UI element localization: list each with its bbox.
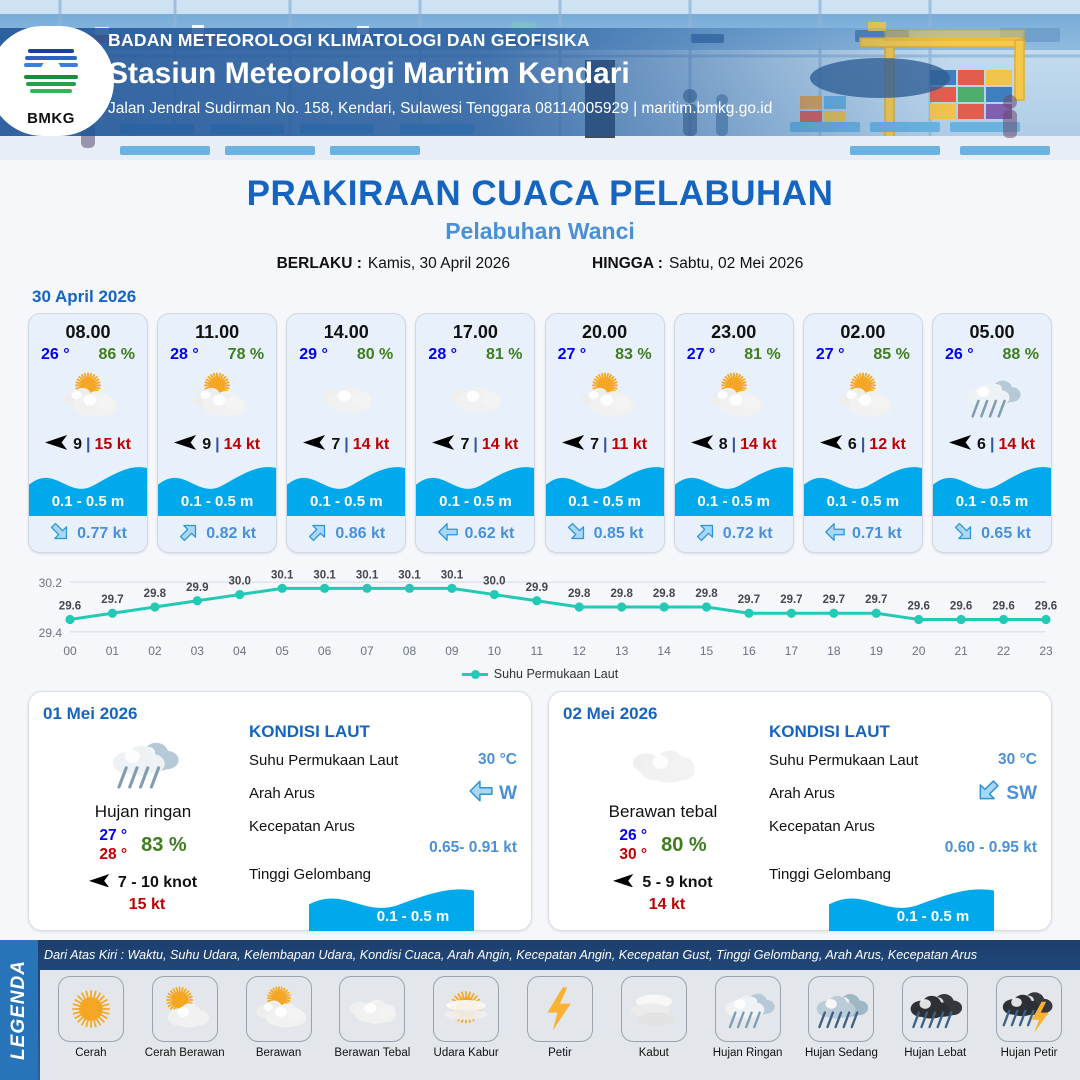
- current-direction-icon: [307, 521, 329, 548]
- forecast-card[interactable]: 11.00 28 ° 78 % 9 | 14 kt 0.1 - 0.5 m: [157, 313, 277, 553]
- card-current: 0.72 kt: [675, 516, 793, 552]
- legend-item-icon: [339, 976, 405, 1042]
- current-direction-icon: [566, 521, 588, 548]
- current-direction-icon: [468, 778, 494, 809]
- legend-item-icon: [58, 976, 124, 1042]
- page-title-block: PRAKIRAAN CUACA PELABUHAN Pelabuhan Wanc…: [0, 174, 1080, 273]
- card-wave-height: 0.1 - 0.5 m: [546, 493, 664, 510]
- day-wave-graphic-wrap: 0.1 - 0.5 m: [309, 885, 517, 931]
- card-wind-speed: 14 kt: [224, 436, 260, 454]
- current-direction-icon: [695, 521, 717, 548]
- card-wind: 9 | 15 kt: [29, 428, 147, 462]
- card-weather-icon: [287, 366, 405, 428]
- card-wind-speed: 14 kt: [482, 436, 518, 454]
- legend-item-icon: [527, 976, 593, 1042]
- card-wind: 8 | 14 kt: [675, 428, 793, 462]
- wind-direction-icon: [432, 435, 456, 455]
- svg-text:06: 06: [318, 644, 332, 658]
- card-wave: 0.1 - 0.5 m: [546, 462, 664, 516]
- current-speed-value: 0.60 - 0.95 kt: [769, 839, 1037, 857]
- card-wave-height: 0.1 - 0.5 m: [29, 493, 147, 510]
- svg-text:18: 18: [827, 644, 841, 658]
- day-condition: Hujan ringan: [43, 802, 243, 822]
- current-direction-label: Arah Arus: [769, 785, 835, 802]
- legend-item-label: Cerah Berawan: [145, 1047, 225, 1059]
- current-direction-icon: [49, 521, 71, 548]
- sea-conditions-title: KONDISI LAUT: [249, 722, 517, 742]
- wind-separator: |: [861, 436, 865, 454]
- current-direction-row: Arah Arus W: [249, 778, 517, 809]
- card-current: 0.82 kt: [158, 516, 276, 552]
- svg-text:29.8: 29.8: [144, 588, 167, 600]
- card-weather-icon: [933, 366, 1051, 428]
- legend-item-label: Petir: [548, 1047, 572, 1059]
- legend-item-label: Berawan Tebal: [334, 1047, 410, 1059]
- current-direction-row: Arah Arus SW: [769, 778, 1037, 809]
- svg-text:30.1: 30.1: [271, 569, 294, 581]
- svg-text:10: 10: [488, 644, 502, 658]
- card-wave-height: 0.1 - 0.5 m: [158, 493, 276, 510]
- card-weather-icon: [546, 366, 664, 428]
- card-wave-height: 0.1 - 0.5 m: [416, 493, 534, 510]
- card-wind-speed: 15 kt: [94, 436, 130, 454]
- legend-items: Cerah Cerah Berawan Berawan Berawan Teba…: [40, 970, 1080, 1080]
- sst-label: Suhu Permukaan Laut: [769, 752, 918, 769]
- card-current-speed: 0.62 kt: [465, 525, 515, 543]
- card-current: 0.62 kt: [416, 516, 534, 552]
- svg-text:29.7: 29.7: [101, 594, 123, 606]
- card-wave: 0.1 - 0.5 m: [29, 462, 147, 516]
- legend-item: Petir: [513, 976, 607, 1080]
- svg-text:30.1: 30.1: [313, 569, 336, 581]
- card-humidity: 83 %: [615, 346, 651, 364]
- svg-text:22: 22: [997, 644, 1011, 658]
- legend-sidebar: LEGENDA: [0, 940, 38, 1080]
- card-temp-humidity: 26 ° 86 %: [29, 343, 147, 364]
- valid-to: HINGGA : Sabtu, 02 Mei 2026: [592, 255, 803, 273]
- day-wave-height-value: 0.1 - 0.5 m: [309, 908, 517, 925]
- card-temperature: 28 °: [428, 346, 457, 364]
- page-subtitle: Pelabuhan Wanci: [0, 218, 1080, 245]
- card-wind-degree: 6: [848, 436, 857, 454]
- card-wave-height: 0.1 - 0.5 m: [675, 493, 793, 510]
- forecast-card[interactable]: 23.00 27 ° 81 % 8 | 14 kt 0.1 - 0.5 m: [674, 313, 794, 553]
- card-temperature: 29 °: [299, 346, 328, 364]
- current-direction-value: SW: [1006, 783, 1037, 805]
- wave-height-label: Tinggi Gelombang: [249, 866, 371, 883]
- valid-to-value: Sabtu, 02 Mei 2026: [669, 255, 803, 273]
- legend-item-label: Berawan: [256, 1047, 301, 1059]
- day-gust: 15 kt: [43, 896, 243, 914]
- card-current-speed: 0.72 kt: [723, 525, 773, 543]
- day-date: 02 Mei 2026: [563, 704, 763, 724]
- svg-text:30.1: 30.1: [398, 569, 421, 581]
- svg-text:30.0: 30.0: [483, 576, 505, 588]
- svg-text:29.6: 29.6: [59, 600, 81, 612]
- card-wind-degree: 7: [331, 436, 340, 454]
- hourly-forecast-row: 08.00 26 ° 86 % 9 | 15 kt 0.1 - 0.5 m: [0, 313, 1080, 553]
- card-time: 08.00: [29, 314, 147, 343]
- valid-from-label: BERLAKU :: [277, 255, 362, 273]
- svg-text:29.8: 29.8: [610, 588, 633, 600]
- legend-item: Hujan Petir: [982, 976, 1076, 1080]
- day-weather-icon: [563, 728, 763, 798]
- card-wind-speed: 14 kt: [740, 436, 776, 454]
- svg-text:20: 20: [912, 644, 926, 658]
- header-org: BADAN METEOROLOGI KLIMATOLOGI DAN GEOFIS…: [108, 30, 772, 51]
- day-wind-direction-icon: [613, 874, 635, 893]
- wind-separator: |: [86, 436, 90, 454]
- legend-item-label: Hujan Petir: [1001, 1047, 1058, 1059]
- card-wind-speed: 12 kt: [869, 436, 905, 454]
- valid-from: BERLAKU : Kamis, 30 April 2026: [277, 255, 510, 273]
- current-speed-label: Kecepatan Arus: [249, 818, 355, 835]
- sst-chart: 30.229.429.60029.70129.80229.90330.00430…: [0, 561, 1080, 671]
- card-wind-degree: 8: [719, 436, 728, 454]
- card-humidity: 86 %: [99, 346, 135, 364]
- card-temperature: 26 °: [945, 346, 974, 364]
- card-current: 0.71 kt: [804, 516, 922, 552]
- wind-separator: |: [344, 436, 348, 454]
- legend-item-icon: [996, 976, 1062, 1042]
- card-current-speed: 0.85 kt: [594, 525, 644, 543]
- svg-text:29.9: 29.9: [186, 582, 208, 594]
- legend-item: Berawan: [232, 976, 326, 1080]
- bmkg-logo: BMKG: [0, 26, 114, 136]
- card-weather-icon: [29, 366, 147, 428]
- wind-direction-icon: [45, 435, 69, 455]
- legend-item-label: Cerah: [75, 1047, 106, 1059]
- card-current-speed: 0.86 kt: [335, 525, 385, 543]
- legend-item-icon: [152, 976, 218, 1042]
- svg-text:29.8: 29.8: [568, 588, 591, 600]
- card-temp-humidity: 27 ° 83 %: [546, 343, 664, 364]
- valid-from-value: Kamis, 30 April 2026: [368, 255, 510, 273]
- svg-text:23: 23: [1039, 644, 1053, 658]
- day-wind-speed: 7 - 10 knot: [118, 874, 197, 892]
- day-temp-range: 26 ° 30 °: [619, 826, 647, 865]
- legend-item-icon: [902, 976, 968, 1042]
- sst-label: Suhu Permukaan Laut: [249, 752, 398, 769]
- svg-text:29.4: 29.4: [39, 626, 63, 640]
- card-wave-height: 0.1 - 0.5 m: [287, 493, 405, 510]
- current-direction-icon: [824, 521, 846, 548]
- svg-text:21: 21: [954, 644, 968, 658]
- card-temperature: 27 °: [558, 346, 587, 364]
- card-wind-speed: 14 kt: [353, 436, 389, 454]
- card-temperature: 27 °: [816, 346, 845, 364]
- wave-height-label: Tinggi Gelombang: [769, 866, 891, 883]
- card-current-speed: 0.77 kt: [77, 525, 127, 543]
- svg-text:12: 12: [573, 644, 587, 658]
- svg-text:29.8: 29.8: [653, 588, 676, 600]
- card-weather-icon: [416, 366, 534, 428]
- card-wind-degree: 9: [202, 436, 211, 454]
- svg-text:08: 08: [403, 644, 417, 658]
- card-humidity: 85 %: [873, 346, 909, 364]
- svg-text:17: 17: [785, 644, 799, 658]
- card-wave-height: 0.1 - 0.5 m: [933, 493, 1051, 510]
- card-wind-degree: 6: [977, 436, 986, 454]
- current-direction-icon: [178, 521, 200, 548]
- legend-item-label: Hujan Lebat: [904, 1047, 966, 1059]
- day-weather-icon: [43, 728, 243, 798]
- wind-separator: |: [603, 436, 607, 454]
- day-temp-max: 30 °: [619, 845, 647, 864]
- forecast-date-label: 30 April 2026: [32, 287, 1080, 307]
- svg-text:04: 04: [233, 644, 247, 658]
- wave-height-row: Tinggi Gelombang: [249, 866, 517, 883]
- legend-item: Udara Kabur: [419, 976, 513, 1080]
- card-temperature: 27 °: [687, 346, 716, 364]
- card-current: 0.77 kt: [29, 516, 147, 552]
- current-speed-row: Kecepatan Arus: [769, 818, 1037, 835]
- daily-forecast-row: 01 Mei 2026 Hujan ringan 27 ° 28 ° 83 % …: [0, 681, 1080, 931]
- validity-row: BERLAKU : Kamis, 30 April 2026 HINGGA : …: [0, 255, 1080, 273]
- svg-text:29.6: 29.6: [992, 600, 1014, 612]
- day-wave-graphic-wrap: 0.1 - 0.5 m: [829, 885, 1037, 931]
- svg-text:16: 16: [742, 644, 756, 658]
- legend-item-label: Udara Kabur: [434, 1047, 499, 1059]
- svg-text:30.0: 30.0: [229, 576, 251, 588]
- forecast-card[interactable]: 08.00 26 ° 86 % 9 | 15 kt 0.1 - 0.5 m: [28, 313, 148, 553]
- day-sea-conditions: KONDISI LAUT Suhu Permukaan Laut 30 °C A…: [243, 704, 517, 920]
- card-wind: 9 | 14 kt: [158, 428, 276, 462]
- card-wind: 7 | 11 kt: [546, 428, 664, 462]
- sst-row: Suhu Permukaan Laut 30 °C: [249, 751, 517, 769]
- header-station: Stasiun Meteorologi Maritim Kendari: [108, 57, 772, 91]
- card-wind-degree: 7: [460, 436, 469, 454]
- card-wind-speed: 11 kt: [611, 436, 647, 454]
- day-temp-range: 27 ° 28 °: [99, 826, 127, 865]
- card-wind: 6 | 12 kt: [804, 428, 922, 462]
- current-direction-value: W: [499, 783, 517, 805]
- svg-text:05: 05: [275, 644, 289, 658]
- current-speed-value: 0.65- 0.91 kt: [249, 839, 517, 857]
- svg-text:29.6: 29.6: [1035, 600, 1057, 612]
- day-date: 01 Mei 2026: [43, 704, 243, 724]
- svg-text:30.1: 30.1: [356, 569, 379, 581]
- legend-item-icon: [433, 976, 499, 1042]
- svg-text:29.7: 29.7: [780, 594, 802, 606]
- day-humidity: 80 %: [661, 834, 707, 857]
- legend-item: Cerah: [44, 976, 138, 1080]
- card-weather-icon: [675, 366, 793, 428]
- card-wind-degree: 7: [590, 436, 599, 454]
- svg-text:02: 02: [148, 644, 162, 658]
- current-direction-icon: [953, 521, 975, 548]
- svg-text:03: 03: [191, 644, 205, 658]
- legend-section: LEGENDA Dari Atas Kiri : Waktu, Suhu Uda…: [0, 940, 1080, 1080]
- legend-item-icon: [246, 976, 312, 1042]
- sst-value: 30 °C: [998, 751, 1037, 769]
- card-humidity: 78 %: [228, 346, 264, 364]
- daily-forecast-panel[interactable]: 01 Mei 2026 Hujan ringan 27 ° 28 ° 83 % …: [28, 691, 532, 931]
- card-temp-humidity: 28 ° 81 %: [416, 343, 534, 364]
- svg-text:30.1: 30.1: [441, 569, 464, 581]
- card-humidity: 81 %: [744, 346, 780, 364]
- day-humidity: 83 %: [141, 834, 187, 857]
- day-wind: 7 - 10 knot: [43, 874, 243, 893]
- day-wind-speed: 5 - 9 knot: [642, 874, 712, 892]
- svg-text:29.6: 29.6: [950, 600, 972, 612]
- wind-direction-icon: [691, 435, 715, 455]
- card-current-speed: 0.71 kt: [852, 525, 902, 543]
- card-humidity: 88 %: [1003, 346, 1039, 364]
- card-time: 23.00: [675, 314, 793, 343]
- sst-value: 30 °C: [478, 751, 517, 769]
- current-direction-value-group: SW: [975, 778, 1037, 809]
- svg-text:01: 01: [106, 644, 120, 658]
- svg-text:14: 14: [657, 644, 671, 658]
- forecast-card[interactable]: 05.00 26 ° 88 % 6 | 14 kt 0.1 - 0.5 m: [932, 313, 1052, 553]
- legend-item-label: Hujan Sedang: [805, 1047, 878, 1059]
- current-direction-value-group: W: [468, 778, 517, 809]
- card-time: 14.00: [287, 314, 405, 343]
- legend-item: Kabut: [607, 976, 701, 1080]
- current-direction-icon: [975, 778, 1001, 809]
- card-current-speed: 0.65 kt: [981, 525, 1031, 543]
- card-wave: 0.1 - 0.5 m: [933, 462, 1051, 516]
- card-humidity: 80 %: [357, 346, 393, 364]
- card-weather-icon: [158, 366, 276, 428]
- sea-conditions-title: KONDISI LAUT: [769, 722, 1037, 742]
- card-time: 17.00: [416, 314, 534, 343]
- wind-direction-icon: [820, 435, 844, 455]
- card-current: 0.65 kt: [933, 516, 1051, 552]
- legend-item-icon: [808, 976, 874, 1042]
- bmkg-logo-text: BMKG: [27, 110, 75, 127]
- svg-text:07: 07: [360, 644, 374, 658]
- daily-forecast-panel[interactable]: 02 Mei 2026 Berawan tebal 26 ° 30 ° 80 %…: [548, 691, 1052, 931]
- forecast-card[interactable]: 02.00 27 ° 85 % 6 | 12 kt 0.1 - 0.5 m: [803, 313, 923, 553]
- wind-direction-icon: [174, 435, 198, 455]
- card-temp-humidity: 28 ° 78 %: [158, 343, 276, 364]
- card-wind: 7 | 14 kt: [287, 428, 405, 462]
- current-direction-icon: [437, 521, 459, 548]
- forecast-card[interactable]: 14.00 29 ° 80 % 7 | 14 kt 0.1 - 0.5 m 0.…: [286, 313, 406, 553]
- card-temp-humidity: 27 ° 85 %: [804, 343, 922, 364]
- card-time: 02.00: [804, 314, 922, 343]
- validity-gap: [510, 255, 592, 273]
- wind-separator: |: [473, 436, 477, 454]
- legend-item: Hujan Lebat: [888, 976, 982, 1080]
- card-weather-icon: [804, 366, 922, 428]
- legend-item-icon: [715, 976, 781, 1042]
- header-text-block: BADAN METEOROLOGI KLIMATOLOGI DAN GEOFIS…: [108, 30, 772, 118]
- card-wave: 0.1 - 0.5 m: [158, 462, 276, 516]
- card-temp-humidity: 27 ° 81 %: [675, 343, 793, 364]
- day-wind-direction-icon: [89, 874, 111, 893]
- svg-text:29.7: 29.7: [865, 594, 887, 606]
- header-contact: Jalan Jendral Sudirman No. 158, Kendari,…: [108, 100, 772, 118]
- legend-sidebar-label: LEGENDA: [8, 960, 30, 1060]
- legend-item: Hujan Ringan: [701, 976, 795, 1080]
- wind-direction-icon: [303, 435, 327, 455]
- day-temp-min: 26 °: [619, 826, 647, 845]
- current-speed-row: Kecepatan Arus: [249, 818, 517, 835]
- svg-text:13: 13: [615, 644, 629, 658]
- page-title: PRAKIRAAN CUACA PELABUHAN: [0, 174, 1080, 214]
- svg-text:09: 09: [445, 644, 459, 658]
- svg-text:15: 15: [700, 644, 714, 658]
- legend-note: Dari Atas Kiri : Waktu, Suhu Udara, Kele…: [44, 948, 1074, 962]
- wind-direction-icon: [562, 435, 586, 455]
- sst-row: Suhu Permukaan Laut 30 °C: [769, 751, 1037, 769]
- current-speed-label: Kecepatan Arus: [769, 818, 875, 835]
- wind-separator: |: [732, 436, 736, 454]
- svg-text:11: 11: [531, 644, 544, 658]
- day-left: 02 Mei 2026 Berawan tebal 26 ° 30 ° 80 %…: [563, 704, 763, 920]
- legend-item-label: Kabut: [639, 1047, 669, 1059]
- card-current: 0.86 kt: [287, 516, 405, 552]
- svg-text:29.6: 29.6: [908, 600, 930, 612]
- card-wave: 0.1 - 0.5 m: [675, 462, 793, 516]
- card-current-speed: 0.82 kt: [206, 525, 256, 543]
- day-wave-height-value: 0.1 - 0.5 m: [829, 908, 1037, 925]
- card-temperature: 28 °: [170, 346, 199, 364]
- card-wave: 0.1 - 0.5 m: [804, 462, 922, 516]
- day-temp-max: 28 °: [99, 845, 127, 864]
- valid-to-label: HINGGA :: [592, 255, 663, 273]
- legend-item: Hujan Sedang: [795, 976, 889, 1080]
- svg-text:29.7: 29.7: [738, 594, 760, 606]
- svg-text:30.2: 30.2: [39, 576, 63, 590]
- chart-legend-marker: [462, 673, 488, 676]
- bmkg-logo-mark: [14, 35, 88, 109]
- card-wave: 0.1 - 0.5 m: [287, 462, 405, 516]
- card-temp-humidity: 29 ° 80 %: [287, 343, 405, 364]
- card-time: 11.00: [158, 314, 276, 343]
- card-wind: 7 | 14 kt: [416, 428, 534, 462]
- day-wind: 5 - 9 knot: [563, 874, 763, 893]
- card-temp-humidity: 26 ° 88 %: [933, 343, 1051, 364]
- current-direction-label: Arah Arus: [249, 785, 315, 802]
- card-time: 20.00: [546, 314, 664, 343]
- forecast-card[interactable]: 20.00 27 ° 83 % 7 | 11 kt 0.1 - 0.5 m: [545, 313, 665, 553]
- forecast-card[interactable]: 17.00 28 ° 81 % 7 | 14 kt 0.1 - 0.5 m 0.…: [415, 313, 535, 553]
- wind-direction-icon: [949, 435, 973, 455]
- card-humidity: 81 %: [486, 346, 522, 364]
- svg-text:29.8: 29.8: [695, 588, 718, 600]
- svg-text:29.7: 29.7: [823, 594, 845, 606]
- day-condition: Berawan tebal: [563, 802, 763, 822]
- card-current: 0.85 kt: [546, 516, 664, 552]
- wind-separator: |: [990, 436, 994, 454]
- wave-height-row: Tinggi Gelombang: [769, 866, 1037, 883]
- day-temp-min: 27 °: [99, 826, 127, 845]
- card-time: 05.00: [933, 314, 1051, 343]
- legend-item-label: Hujan Ringan: [713, 1047, 783, 1059]
- day-gust: 14 kt: [563, 896, 763, 914]
- svg-text:19: 19: [870, 644, 884, 658]
- card-temperature: 26 °: [41, 346, 70, 364]
- card-wave-height: 0.1 - 0.5 m: [804, 493, 922, 510]
- card-wind-degree: 9: [73, 436, 82, 454]
- svg-text:29.9: 29.9: [526, 582, 548, 594]
- legend-item-icon: [621, 976, 687, 1042]
- legend-item: Cerah Berawan: [138, 976, 232, 1080]
- day-temps: 27 ° 28 ° 83 %: [43, 826, 243, 865]
- card-wave: 0.1 - 0.5 m: [416, 462, 534, 516]
- card-wind-speed: 14 kt: [998, 436, 1034, 454]
- day-left: 01 Mei 2026 Hujan ringan 27 ° 28 ° 83 % …: [43, 704, 243, 920]
- legend-item: Berawan Tebal: [325, 976, 419, 1080]
- page-header: BMKG BADAN METEOROLOGI KLIMATOLOGI DAN G…: [0, 0, 1080, 160]
- card-wind: 6 | 14 kt: [933, 428, 1051, 462]
- day-temps: 26 ° 30 ° 80 %: [563, 826, 763, 865]
- wind-separator: |: [215, 436, 219, 454]
